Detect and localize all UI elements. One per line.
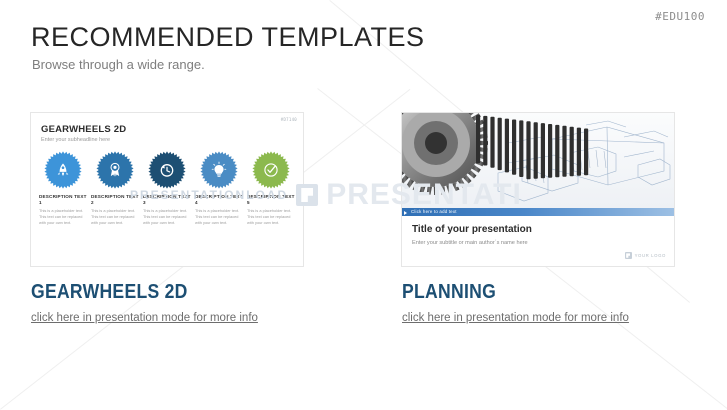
slide-subtitle: Enter your subheadline here xyxy=(41,137,110,143)
caption-gearwheels: GEARWHEELS 2D click here in presentation… xyxy=(31,281,258,324)
gearwheel-photo xyxy=(402,113,674,208)
slide-text-bar[interactable]: Click here to add text xyxy=(402,208,674,216)
gear-label: DESCRIPTION TEXT 1 xyxy=(39,194,87,206)
lightbulb-icon xyxy=(200,151,238,189)
presentation-title: Title of your presentation xyxy=(412,224,532,235)
play-triangle-icon xyxy=(404,211,407,215)
caption-planning: PLANNING click here in presentation mode… xyxy=(402,281,629,324)
rocket-icon xyxy=(44,151,82,189)
caption-title: PLANNING xyxy=(402,281,602,304)
gear-label: DESCRIPTION TEXT 4 xyxy=(195,194,243,206)
gear-item: DESCRIPTION TEXT 2 This is a placeholder… xyxy=(91,151,139,225)
clock-history-icon xyxy=(148,151,186,189)
gear-body: This is a placeholder text. This text ca… xyxy=(91,208,139,225)
caption-link[interactable]: click here in presentation mode for more… xyxy=(31,312,258,324)
logo-label: YOUR LOGO xyxy=(635,253,666,258)
gear-label: DESCRIPTION TEXT 3 xyxy=(143,194,191,206)
gear-item: DESCRIPTION TEXT 3 This is a placeholder… xyxy=(143,151,191,225)
gear-item: DESCRIPTION TEXT 5 This is a placeholder… xyxy=(247,151,295,225)
slide-canvas: #EDU100 RECOMMENDED TEMPLATES Browse thr… xyxy=(0,0,727,409)
presentation-subtitle: Enter your subtitle or main author´s nam… xyxy=(412,240,528,246)
bar-label: Click here to add text xyxy=(411,209,457,214)
gear-body: This is a placeholder text. This text ca… xyxy=(247,208,295,225)
gear-item: DESCRIPTION TEXT 4 This is a placeholder… xyxy=(195,151,243,225)
page-subtitle: Browse through a wide range. xyxy=(32,57,205,72)
gear-row: DESCRIPTION TEXT 1 This is a placeholder… xyxy=(39,151,297,225)
logo-mark-icon xyxy=(625,252,632,259)
gear-body: This is a placeholder text. This text ca… xyxy=(39,208,87,225)
document-code: #EDU100 xyxy=(655,10,705,23)
gear-body: This is a placeholder text. This text ca… xyxy=(195,208,243,225)
template-thumbnail-planning[interactable]: Click here to add text Title of your pre… xyxy=(402,113,674,266)
slide-title: GEARWHEELS 2D xyxy=(41,124,126,135)
gear-item: DESCRIPTION TEXT 1 This is a placeholder… xyxy=(39,151,87,225)
check-circle-icon xyxy=(252,151,290,189)
award-ribbon-icon xyxy=(96,151,134,189)
logo-placeholder: YOUR LOGO xyxy=(625,252,666,259)
template-thumbnail-gearwheels[interactable]: #D7140 GEARWHEELS 2D Enter your subheadl… xyxy=(31,113,303,266)
caption-link[interactable]: click here in presentation mode for more… xyxy=(402,312,629,324)
slide-code: #D7140 xyxy=(281,117,297,122)
gear-body: This is a placeholder text. This text ca… xyxy=(143,208,191,225)
gear-label: DESCRIPTION TEXT 5 xyxy=(247,194,295,206)
gear-label: DESCRIPTION TEXT 2 xyxy=(91,194,139,206)
page-title: RECOMMENDED TEMPLATES xyxy=(31,22,425,53)
caption-title: GEARWHEELS 2D xyxy=(31,281,231,304)
